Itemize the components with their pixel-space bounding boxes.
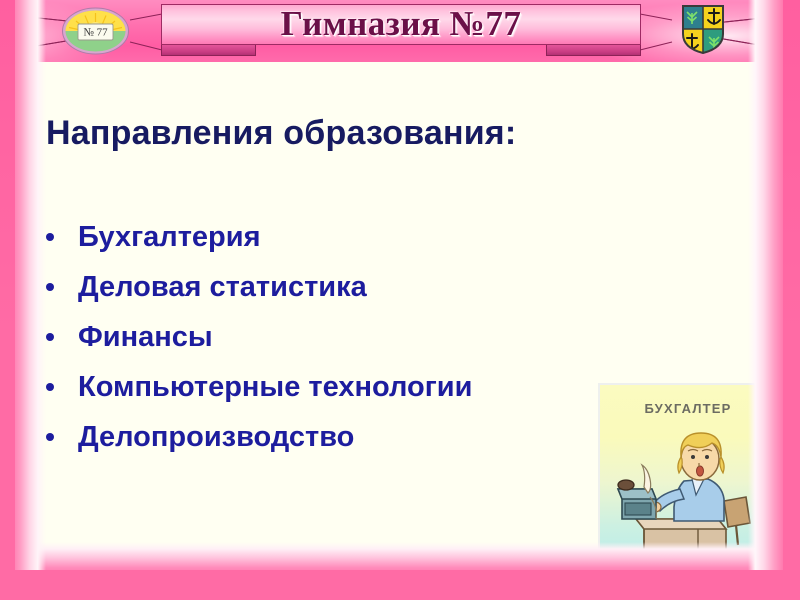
bullet-dot-icon [46,233,54,241]
school-sun-book-emblem-icon: № 77 [61,7,130,55]
ribbon-fold-right [546,45,641,56]
list-item-label: Бухгалтерия [78,221,261,253]
slide-header-ribbon: Гимназия №77 № 77 [0,0,800,62]
bullet-dot-icon [46,383,54,391]
list-item: Финансы [40,312,472,362]
list-item-label: Финансы [78,321,213,353]
bullet-dot-icon [46,283,54,291]
presentation-slide: Гимназия №77 № 77 [0,0,800,600]
bullet-dot-icon [46,433,54,441]
page-title: Направления образования: [46,114,516,153]
ribbon-fold-left [161,45,256,56]
list-item: Делопроизводство [40,412,472,462]
list-item: Деловая статистика [40,262,472,312]
svg-text:№ 77: № 77 [83,27,108,39]
list-item-label: Делопроизводство [78,421,354,453]
education-directions-list: Бухгалтерия Деловая статистика Финансы К… [40,212,472,462]
illustration-caption: БУХГАЛТЕР [600,401,776,416]
list-item: Компьютерные технологии [40,362,472,412]
school-title: Гимназия №77 [161,2,641,46]
accountant-illustration: БУХГАЛТЕР [598,383,778,573]
accountant-cartoon-icon [600,415,776,573]
city-coat-of-arms-icon [681,4,725,54]
list-item-label: Деловая статистика [78,271,367,303]
list-item-label: Компьютерные технологии [78,371,472,403]
bullet-dot-icon [46,333,54,341]
list-item: Бухгалтерия [40,212,472,262]
